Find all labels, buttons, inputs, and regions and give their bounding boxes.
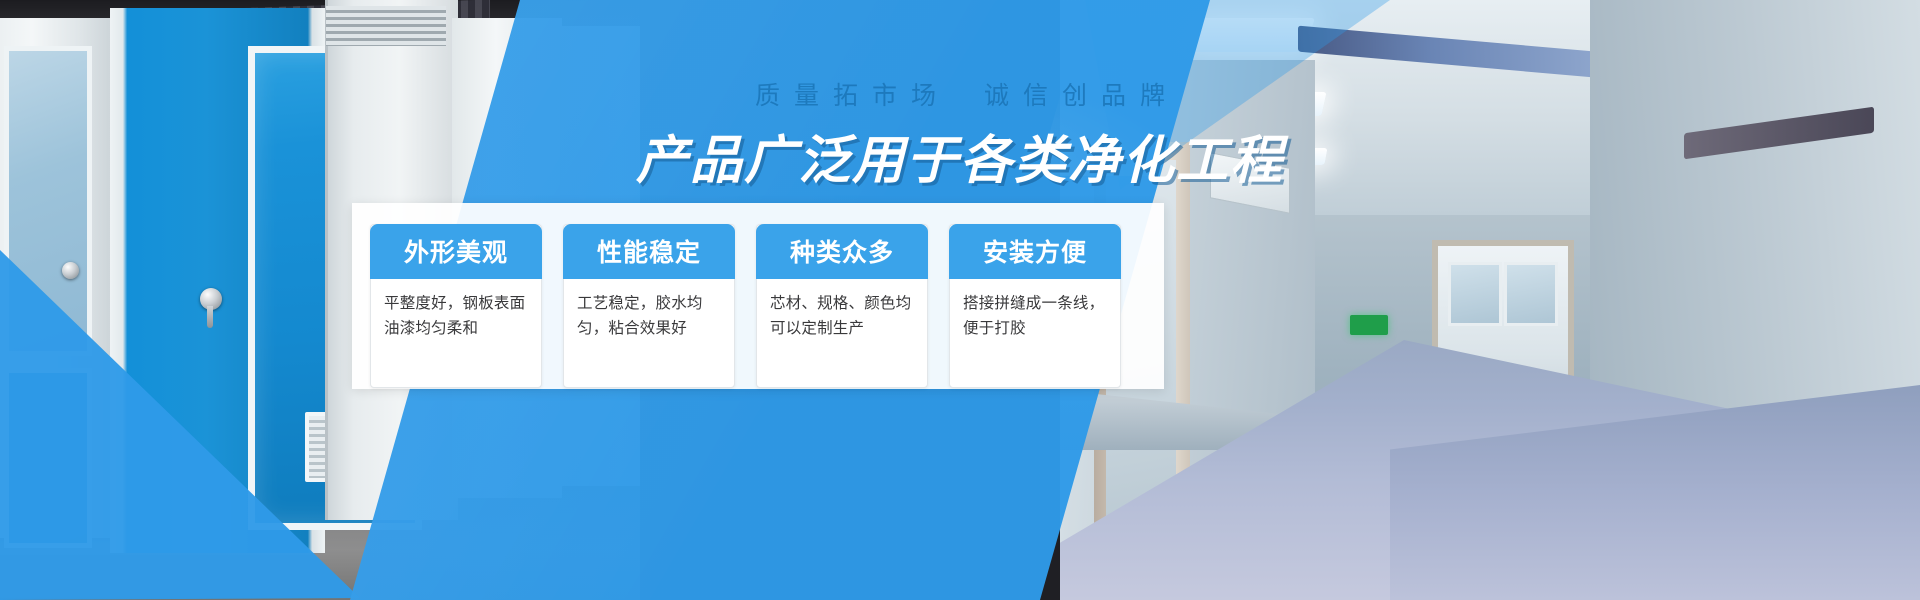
feature-card-title: 外形美观 xyxy=(370,224,542,279)
feature-card-title: 性能稳定 xyxy=(563,224,735,279)
feature-card-title: 种类众多 xyxy=(756,224,928,279)
feature-card[interactable]: 性能稳定 工艺稳定，胶水均匀，粘合效果好 xyxy=(563,224,735,388)
tagline-left-text: 质量拓市场 xyxy=(755,81,950,110)
tagline-right-text: 诚信创品牌 xyxy=(984,81,1179,110)
feature-card-body: 工艺稳定，胶水均匀，粘合效果好 xyxy=(564,279,734,387)
feature-card[interactable]: 安装方便 搭接拼缝成一条线，便于打胶 xyxy=(949,224,1121,388)
feature-card-list: 外形美观 平整度好，钢板表面油漆均匀柔和 性能稳定 工艺稳定，胶水均匀，粘合效果… xyxy=(370,224,1121,388)
banner-headline: 产品广泛用于各类净化工程 xyxy=(0,118,1920,193)
feature-card-body: 搭接拼缝成一条线，便于打胶 xyxy=(950,279,1120,387)
feature-card[interactable]: 外形美观 平整度好，钢板表面油漆均匀柔和 xyxy=(370,224,542,388)
feature-card-title: 安装方便 xyxy=(949,224,1121,279)
feature-card[interactable]: 种类众多 芯材、规格、颜色均可以定制生产 xyxy=(756,224,928,388)
promo-banner: 质量拓市场诚信创品牌 产品广泛用于各类净化工程 外形美观 平整度好，钢板表面油漆… xyxy=(0,0,1920,600)
banner-tagline: 质量拓市场诚信创品牌 xyxy=(0,76,1920,112)
feature-card-body: 芯材、规格、颜色均可以定制生产 xyxy=(757,279,927,387)
feature-card-body: 平整度好，钢板表面油漆均匀柔和 xyxy=(371,279,541,387)
